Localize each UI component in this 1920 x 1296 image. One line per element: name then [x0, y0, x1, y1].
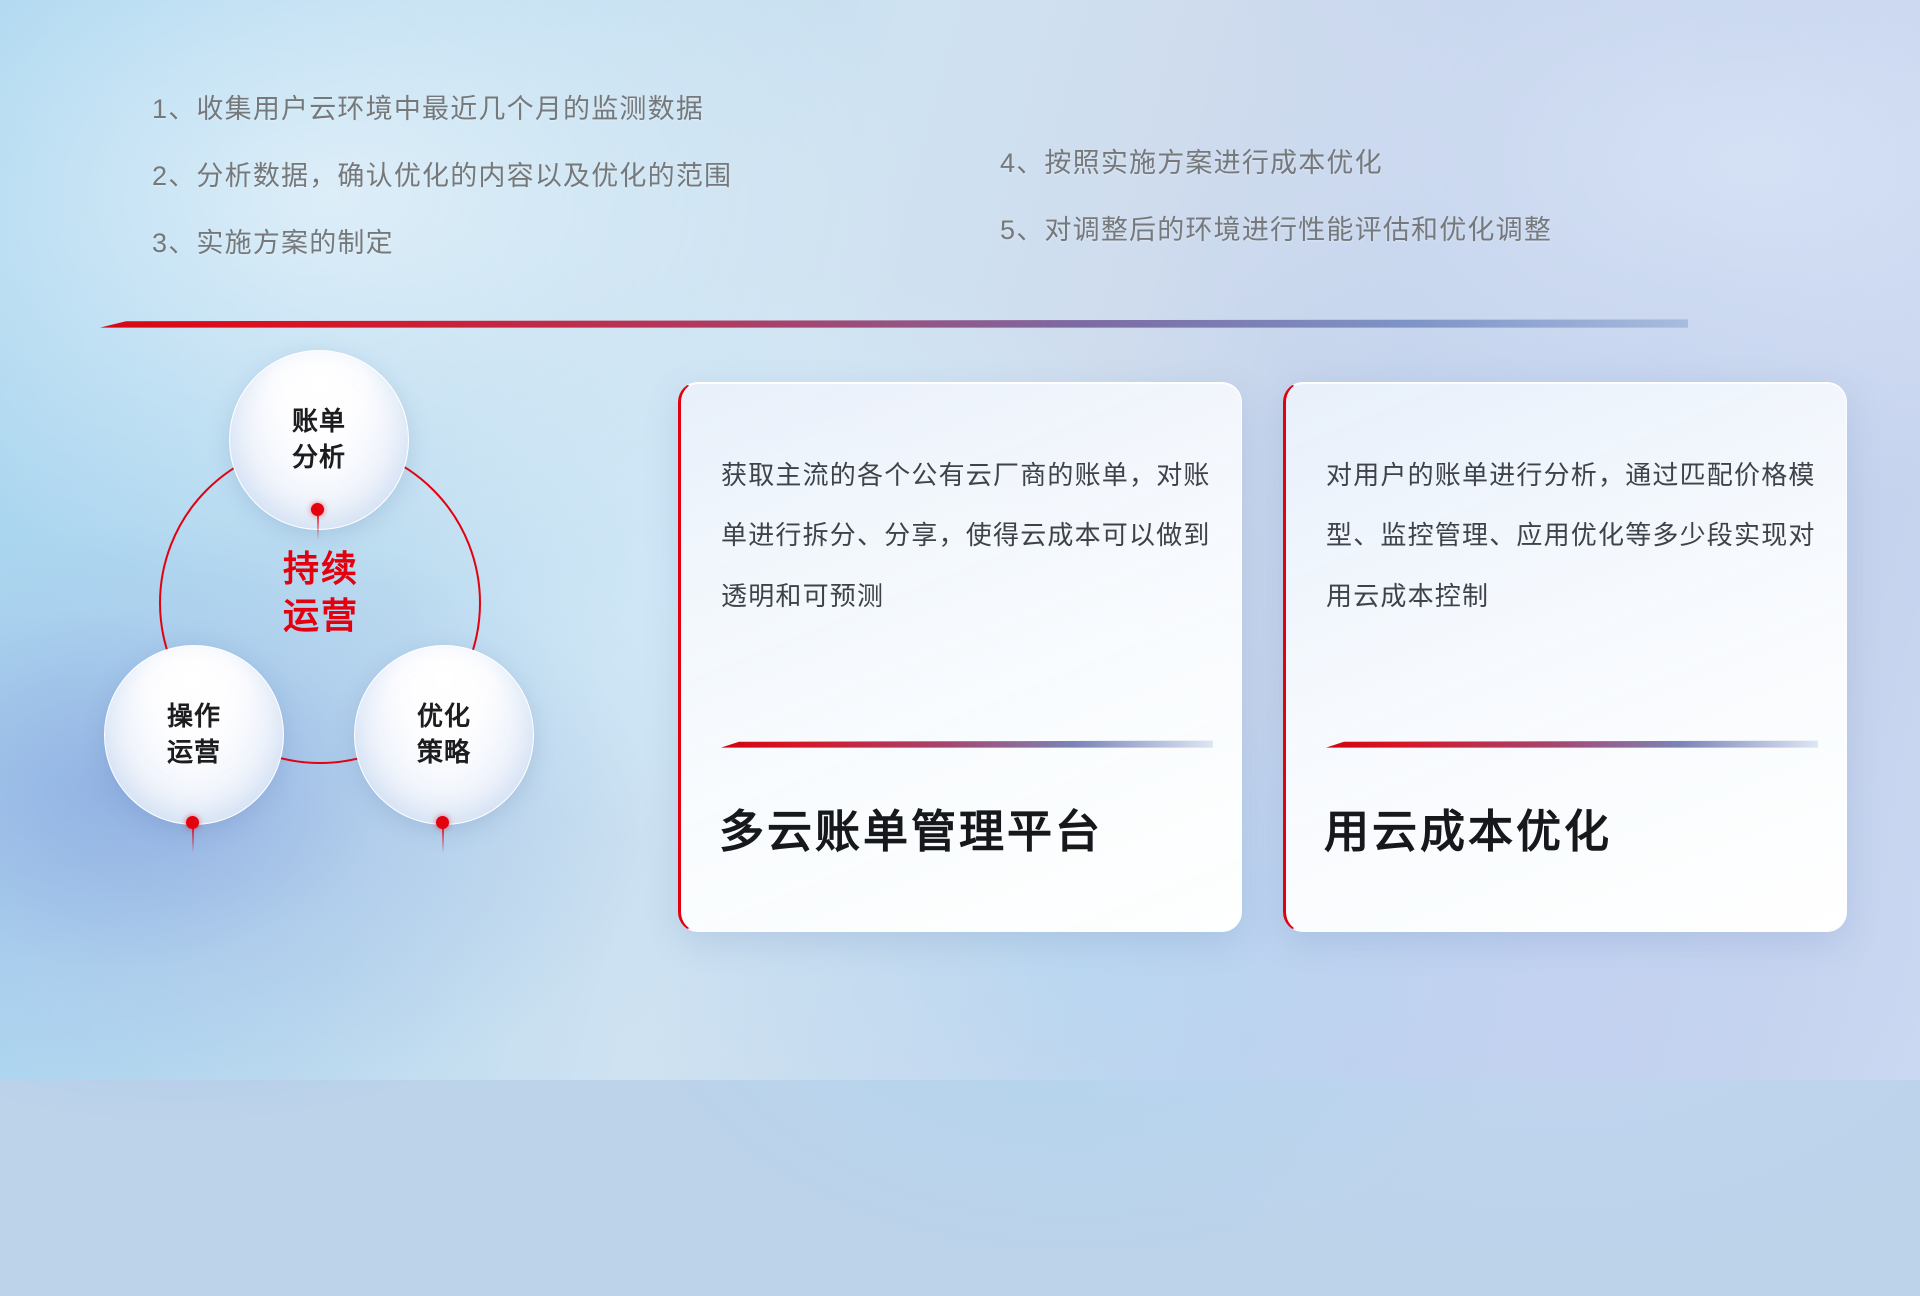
diagram-lobe-optimization-strategy[interactable]: 优化 策略 [354, 645, 534, 825]
diagram-node-dot [311, 503, 324, 516]
section-divider [100, 315, 1688, 324]
diagram-node-tail [317, 514, 319, 540]
step-item-2: 2、分析数据，确认优化的内容以及优化的范围 [152, 163, 732, 190]
diagram-center-label: 持续 运营 [216, 546, 426, 640]
card-divider-shape [721, 740, 1213, 748]
diagram-lobe-label: 账单 分析 [292, 404, 346, 476]
lobe-top-line-2: 分析 [292, 440, 346, 476]
diagram-lobe-operations[interactable]: 操作 运营 [104, 645, 284, 825]
diagram-center-line-2: 运营 [216, 593, 426, 640]
step-item-1: 1、收集用户云环境中最近几个月的监测数据 [152, 96, 732, 123]
diagram-lobe-label: 操作 运营 [167, 699, 221, 771]
steps-list-left: 1、收集用户云环境中最近几个月的监测数据 2、分析数据，确认优化的内容以及优化的… [152, 96, 732, 257]
lobe-right-line-1: 优化 [417, 699, 471, 735]
continuous-operation-diagram: 持续 运营 账单 分析 操作 运营 优化 策略 [96, 350, 566, 950]
steps-list-right: 4、按照实施方案进行成本优化 5、对调整后的环境进行性能评估和优化调整 [1000, 150, 1552, 244]
step-item-5: 5、对调整后的环境进行性能评估和优化调整 [1000, 217, 1552, 244]
step-item-4: 4、按照实施方案进行成本优化 [1000, 150, 1552, 177]
diagram-node-tail [192, 827, 194, 853]
diagram-lobe-label: 优化 策略 [417, 699, 471, 771]
feature-card-cloud-cost-optimization[interactable]: 对用户的账单进行分析，通过匹配价格模型、监控管理、应用优化等多少段实现对用云成本… [1283, 382, 1847, 932]
card-divider-shape [1326, 740, 1818, 748]
lobe-left-line-2: 运营 [167, 735, 221, 771]
card-title: 用云成本优化 [1324, 795, 1824, 860]
lobe-left-line-1: 操作 [167, 699, 221, 735]
step-item-3: 3、实施方案的制定 [152, 230, 732, 257]
card-divider [1326, 735, 1818, 743]
feature-card-multicloud-billing[interactable]: 获取主流的各个公有云厂商的账单，对账单进行拆分、分享，使得云成本可以做到透明和可… [678, 382, 1242, 932]
card-body-text: 获取主流的各个公有云厂商的账单，对账单进行拆分、分享，使得云成本可以做到透明和可… [721, 445, 1215, 626]
diagram-center-line-1: 持续 [216, 546, 426, 593]
lobe-right-line-2: 策略 [417, 735, 471, 771]
diagram-node-dot [186, 816, 199, 829]
diagram-node-tail [442, 827, 444, 853]
card-body-text: 对用户的账单进行分析，通过匹配价格模型、监控管理、应用优化等多少段实现对用云成本… [1326, 445, 1820, 626]
lobe-top-line-1: 账单 [292, 404, 346, 440]
section-divider-shape [100, 319, 1688, 328]
card-divider [721, 735, 1213, 743]
diagram-node-dot [436, 816, 449, 829]
card-title: 多云账单管理平台 [719, 795, 1219, 860]
